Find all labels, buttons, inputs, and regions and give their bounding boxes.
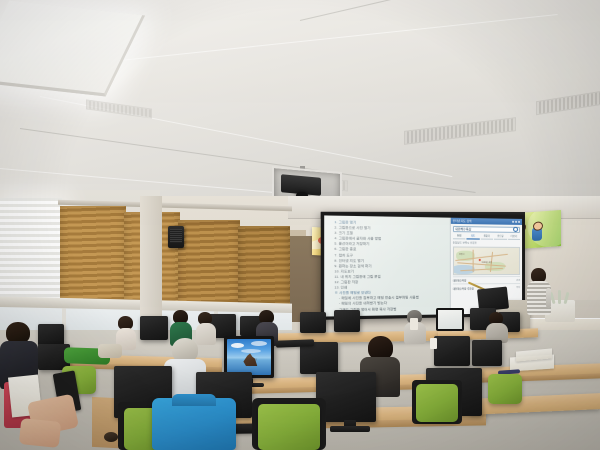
map-result-name: 대천해수욕장 [453,279,467,283]
slide-line: 7. 캡처 도구 [334,253,445,258]
chair-seat-back [416,384,458,422]
student [486,312,508,340]
monitor-base [330,426,370,432]
mascot-figure-right [531,221,542,237]
student [116,316,136,346]
monitor-back [140,316,168,340]
cup [430,338,437,349]
window-blind-wood [60,206,126,306]
map-road [472,249,473,271]
window-blind-wood [238,226,290,310]
chair-seat-back [488,374,522,404]
desk-object [104,432,118,442]
close-icon[interactable] [518,221,520,223]
monitor-screen [438,310,462,329]
wall-pillar [140,196,162,326]
maximize-icon[interactable] [515,221,517,223]
monitor-back [38,324,64,346]
cloud [241,349,261,353]
window-blind-wood [178,220,240,310]
chair-seat-back [258,404,320,450]
map-label-1: 보령시 [459,252,464,255]
hand [19,418,61,448]
window-blind-white [0,198,62,310]
map-search-input[interactable]: 대천해수욕장 [453,225,520,232]
instructor [527,268,551,322]
classroom-photo: 1. 그림판 열기 2. 그림판으로 사진 열기 3. 크기 조절 4. 그림판… [0,0,600,450]
desktop-wallpaper [227,339,271,375]
map-label-0: 대천해수욕장 [482,261,493,264]
beige-bag [98,344,122,358]
search-icon[interactable] [513,227,518,232]
cloud [231,343,244,348]
map-search-value: 대천해수욕장 [455,226,471,230]
slide-line: 8. 인터넷 지도 열기 [334,258,445,263]
monitor-back [300,312,326,333]
monitor-back [472,340,502,366]
map-pin-icon[interactable] [478,258,481,261]
keyboard [276,339,314,347]
map-app-title: 인터넷 지도 검색 [453,219,472,223]
instructor-arm [546,288,551,308]
map-result-meta: 관광 [516,279,520,282]
slide-bullet-list: 1. 그림판 열기 2. 그림판으로 사진 열기 3. 크기 조절 4. 그림판… [324,215,449,316]
ceiling-seam [300,0,593,21]
slide-line: 9. 원하는 장소 검색 하기 [334,264,445,268]
slide-line: 6. 그림판 종료 [334,247,445,252]
monitor-lit [436,308,464,331]
slide-line: 10. 지도보기 [334,269,445,274]
plant-leaf [558,290,561,304]
map-result-subline: 충청남도 보령시 신흑동 [451,239,522,245]
ceiling-seam [120,14,558,61]
slide-line: 12. 그림판 저장 [334,279,445,284]
blue-bag-handle [172,394,216,406]
slide-line: 11. 내 위치 그림판에 그림 붙임 [334,274,445,279]
slide-line: 13. 인쇄 [334,285,445,290]
window-bright [0,198,62,310]
speaker-grille [170,229,182,243]
monitor-back [334,310,360,332]
map-result-meta: 주차 [516,286,520,289]
window-controls[interactable] [512,221,520,223]
wall-speaker [168,226,184,248]
map-result-name: 대천해수욕장 주차장 [453,286,474,290]
minimize-icon[interactable] [512,221,514,223]
cup [410,318,418,330]
map-canvas[interactable]: 대천해수욕장 보령시 [453,246,520,275]
monitor-back [434,336,470,366]
monitor-back [300,342,338,374]
cloud [251,341,267,346]
map-app-titlebar: 인터넷 지도 검색 [451,218,522,225]
